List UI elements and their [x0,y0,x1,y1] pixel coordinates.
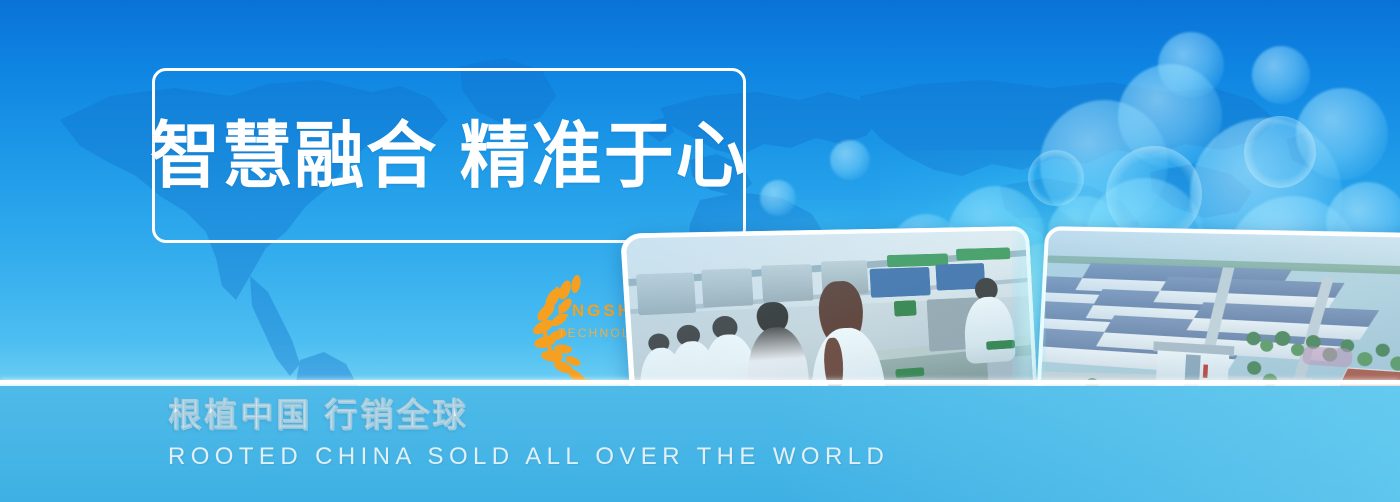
promotional-banner: 智慧融合 精准于心 [0,0,1400,502]
headline-text: 智慧融合 精准于心 [150,119,747,192]
tagline-block: 根植中国 行销全球 ROOTED CHINA SOLD ALL OVER THE… [168,396,889,471]
headline-box: 智慧融合 精准于心 [152,68,746,243]
tagline-english: ROOTED CHINA SOLD ALL OVER THE WORLD [168,443,889,471]
tagline-chinese: 根植中国 行销全球 [168,396,889,434]
